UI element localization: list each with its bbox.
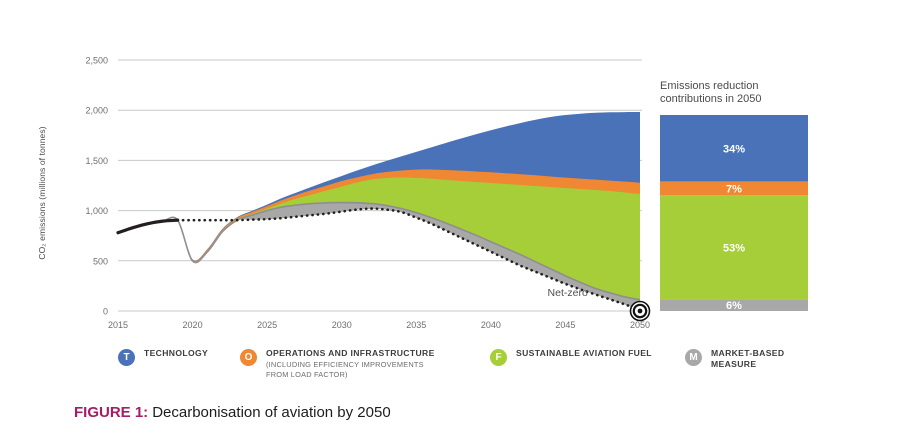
legend-item-label: SUSTAINABLE AVIATION FUEL [516,348,652,359]
y-tick-label: 2,000 [85,106,108,116]
x-tick-label: 2045 [555,320,575,330]
legend-item-saf[interactable]: FSUSTAINABLE AVIATION FUEL [490,348,652,366]
y-tick-label: 1,500 [85,156,108,166]
y-tick-label: 2,500 [85,56,108,66]
y-tick-label: 1,000 [85,206,108,216]
historical-emissions-line [118,220,178,233]
x-tick-label: 2040 [481,320,501,330]
legend-item-label: OPERATIONS AND INFRASTRUCTURE [266,348,435,359]
x-tick-label: 2035 [406,320,426,330]
x-tick-label: 2020 [183,320,203,330]
legend-item-label: TECHNOLOGY [144,348,208,359]
legend-item-sublabel-2: FROM LOAD FACTOR) [266,370,435,380]
legend-item-sublabel-1: MEASURE [711,359,784,370]
y-tick-label: 0 [103,307,108,317]
bar-segment-label: 7% [726,184,742,196]
y-tick-label: 500 [93,256,108,266]
legend-text-block: TECHNOLOGY [144,348,208,359]
bar-segment-label: 34% [723,143,745,155]
legend-text-block: MARKET-BASEDMEASURE [711,348,784,369]
x-tick-label: 2030 [332,320,352,330]
legend-item-label: MARKET-BASED [711,348,784,359]
figure-caption-label: FIGURE 1: [74,404,148,421]
legend-badge-icon: T [118,349,135,366]
net-zero-target-icon [631,302,650,321]
bar-segment-label: 6% [726,300,742,312]
legend-text-block: SUSTAINABLE AVIATION FUEL [516,348,652,359]
stacked-bar-chart: 34%7%53%6% [660,115,808,312]
net-zero-annotation: Net-zero [548,287,588,299]
x-tick-label: 2025 [257,320,277,330]
figure-caption: FIGURE 1:Decarbonisation of aviation by … [74,404,391,421]
figure-caption-text: Decarbonisation of aviation by 2050 [152,404,391,421]
legend-badge-icon: O [240,349,257,366]
legend-badge-icon: M [685,349,702,366]
legend-text-block: OPERATIONS AND INFRASTRUCTURE(INCLUDING … [266,348,435,380]
legend-badge-icon: F [490,349,507,366]
chart-legend: TTECHNOLOGYOOPERATIONS AND INFRASTRUCTUR… [0,345,907,390]
chart-area: CO₂ emissions (millions of tonnes) Emiss… [0,0,907,390]
legend-item-technology[interactable]: TTECHNOLOGY [118,348,208,366]
legend-item-operations[interactable]: OOPERATIONS AND INFRASTRUCTURE(INCLUDING… [240,348,435,380]
bar-segment-label: 53% [723,242,745,254]
x-tick-label: 2050 [630,320,650,330]
x-tick-label: 2015 [108,320,128,330]
legend-item-sublabel-1: (INCLUDING EFFICIENCY IMPROVEMENTS [266,360,435,370]
chart-svg: 05001,0001,5002,0002,500 201520202025203… [0,0,907,390]
x-axis-tick-labels: 20152020202520302035204020452050 [108,320,650,330]
y-axis-tick-labels: 05001,0001,5002,0002,500 [85,56,108,317]
figure-container: CO₂ emissions (millions of tonnes) Emiss… [0,0,907,447]
legend-item-market[interactable]: MMARKET-BASEDMEASURE [685,348,784,369]
